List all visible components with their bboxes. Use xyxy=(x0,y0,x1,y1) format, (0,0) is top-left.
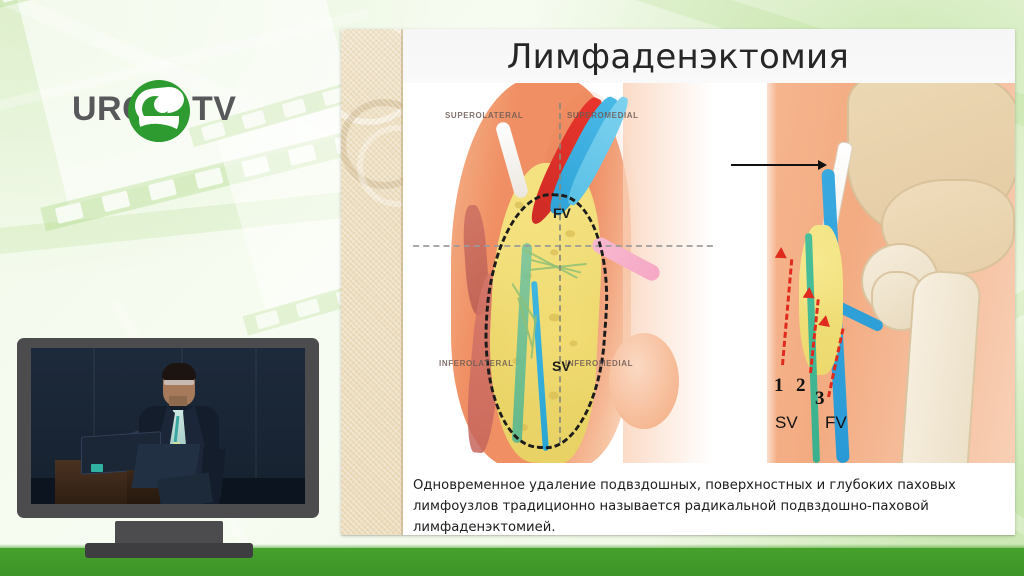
dissection-arrow-2-head xyxy=(803,287,816,299)
slide-sidebar-decoration xyxy=(341,29,403,535)
ligament-callout-line xyxy=(731,164,819,166)
dissection-arrow-1-head xyxy=(775,247,787,258)
slide-title: Лимфаденэктомия xyxy=(341,37,1015,77)
zone-number-1: 1 xyxy=(774,375,784,397)
logo-text-tv: TV xyxy=(192,92,236,126)
speaker-video-monitor[interactable] xyxy=(17,338,319,550)
scrotum xyxy=(609,333,679,429)
ligament-callout-arrowhead xyxy=(818,160,827,170)
label-inferomedial: INFEROMEDIAL xyxy=(565,359,633,368)
speaker-hair xyxy=(162,363,196,380)
monitor-stand-base xyxy=(85,543,253,558)
video-screen[interactable] xyxy=(31,348,305,504)
zone-number-3: 3 xyxy=(815,388,825,410)
label-saphenous-vein-left: SV xyxy=(552,358,571,374)
label-femoral-vein-left: FV xyxy=(553,205,571,221)
skin-edge-highlight xyxy=(761,83,777,463)
screen-glow xyxy=(91,464,103,472)
slide-figure: SUPEROLATERAL SUPEROMEDIAL INFEROLATERAL… xyxy=(403,83,1015,463)
dissection-arrow-3-head xyxy=(818,314,832,327)
femur-shaft xyxy=(900,269,982,463)
label-superomedial: SUPEROMEDIAL xyxy=(567,111,639,120)
label-superolateral: SUPEROLATERAL xyxy=(445,111,523,120)
zone-number-2: 2 xyxy=(796,375,806,397)
logo-swirl-icon xyxy=(128,80,190,142)
femoral-triangle-diagram: SUPEROLATERAL SUPEROMEDIAL INFEROLATERAL… xyxy=(413,83,713,463)
slide-caption: Одновременное удаление подвздошных, пове… xyxy=(413,475,993,535)
presentation-slide[interactable]: Лимфаденэктомия xyxy=(341,29,1015,535)
label-inferolateral: INFEROLATERAL xyxy=(439,359,514,368)
urotv-logo: URO TV xyxy=(72,76,244,142)
label-femoral-vein-right: FV xyxy=(825,413,847,433)
label-saphenous-vein-right: SV xyxy=(775,413,798,433)
inguinal-ligament-diagram: 1 2 3 SV FV паховая связка xyxy=(721,83,1015,463)
speaker-glasses xyxy=(164,380,194,385)
monitor-bezel xyxy=(17,338,319,518)
